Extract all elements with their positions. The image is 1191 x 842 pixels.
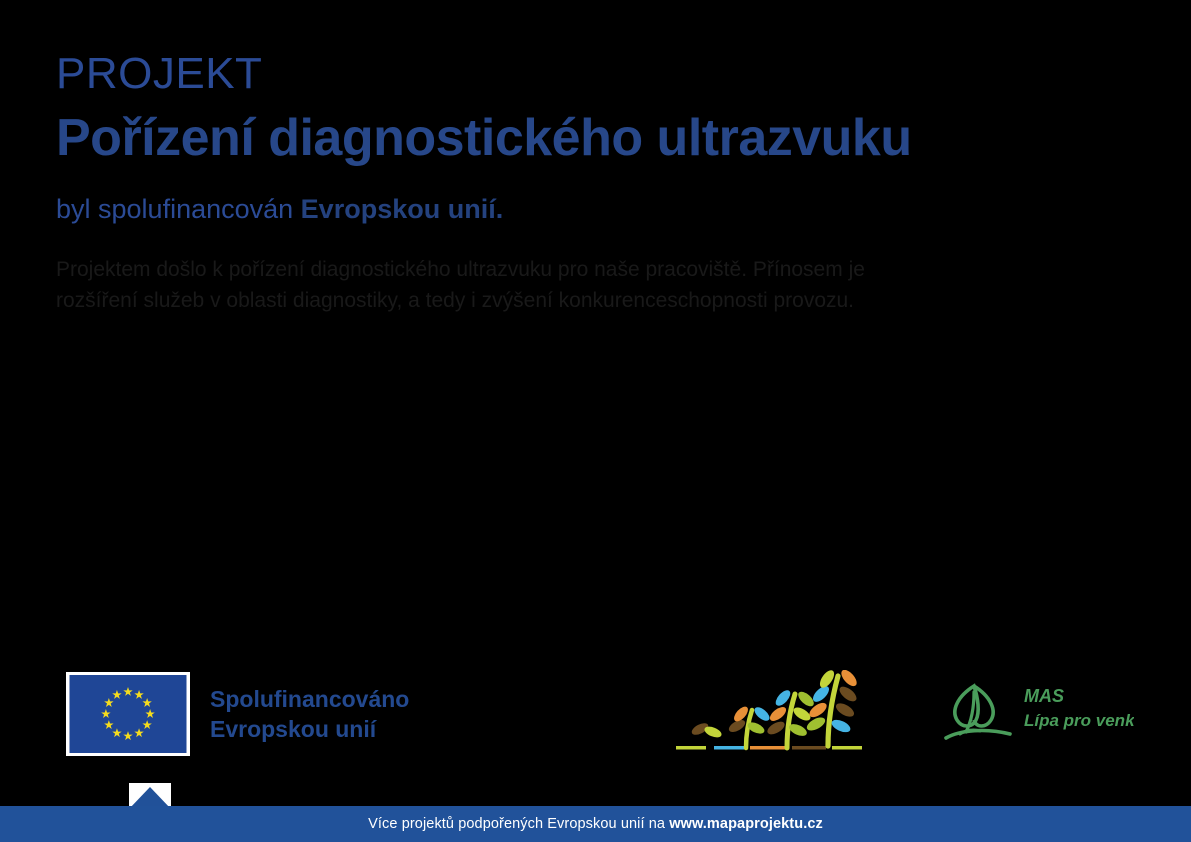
subline-strong-text: Evropskou unií.	[301, 194, 504, 224]
subline-prefix-text: byl spolufinancován	[56, 194, 301, 224]
mas-logo-line-2: Lípa pro venkov z.s.	[1024, 711, 1134, 730]
body-text-line-2: rozšíření služeb v oblasti diagnostiky, …	[56, 286, 1056, 316]
poster-subline: byl spolufinancován Evropskou unií.	[56, 194, 1146, 225]
footer-url-link[interactable]: www.mapaprojektu.cz	[669, 816, 823, 832]
body-text-line-1: Projektem došlo k pořízení diagnostickéh…	[56, 255, 1056, 285]
eu-caption-line-2: Evropskou unií	[210, 716, 376, 742]
mas-lipa-logo: MAS Lípa pro venkov z.s.	[938, 676, 1134, 748]
poster-text-block: PROJEKT Pořízení diagnostického ultrazvu…	[56, 52, 1146, 316]
poster-eyebrow-label: PROJEKT	[56, 52, 1146, 96]
mas-logo-line-1: MAS	[1024, 686, 1064, 706]
logo-strip: Spolufinancováno Evropskou unií	[0, 660, 1191, 770]
eu-logo-caption: Spolufinancováno Evropskou unií	[210, 684, 409, 745]
footer-text-prefix: Více projektů podpořených Evropskou unií…	[368, 816, 669, 832]
footer-text: Více projektů podpořených Evropskou unií…	[368, 816, 823, 832]
eu-cofunded-logo: Spolufinancováno Evropskou unií	[66, 672, 409, 756]
linden-leaf-icon	[946, 686, 1010, 738]
eu-flag-icon	[66, 672, 190, 756]
footer-bar: Více projektů podpořených Evropskou unií…	[0, 806, 1191, 842]
eu-caption-line-1: Spolufinancováno	[210, 686, 409, 712]
seedlings-logo-icon	[672, 670, 868, 762]
project-poster: PROJEKT Pořízení diagnostického ultrazvu…	[0, 0, 1191, 842]
page-title: Pořízení diagnostického ultrazvuku	[56, 110, 1146, 166]
poster-body-text: Projektem došlo k pořízení diagnostickéh…	[56, 255, 1056, 316]
